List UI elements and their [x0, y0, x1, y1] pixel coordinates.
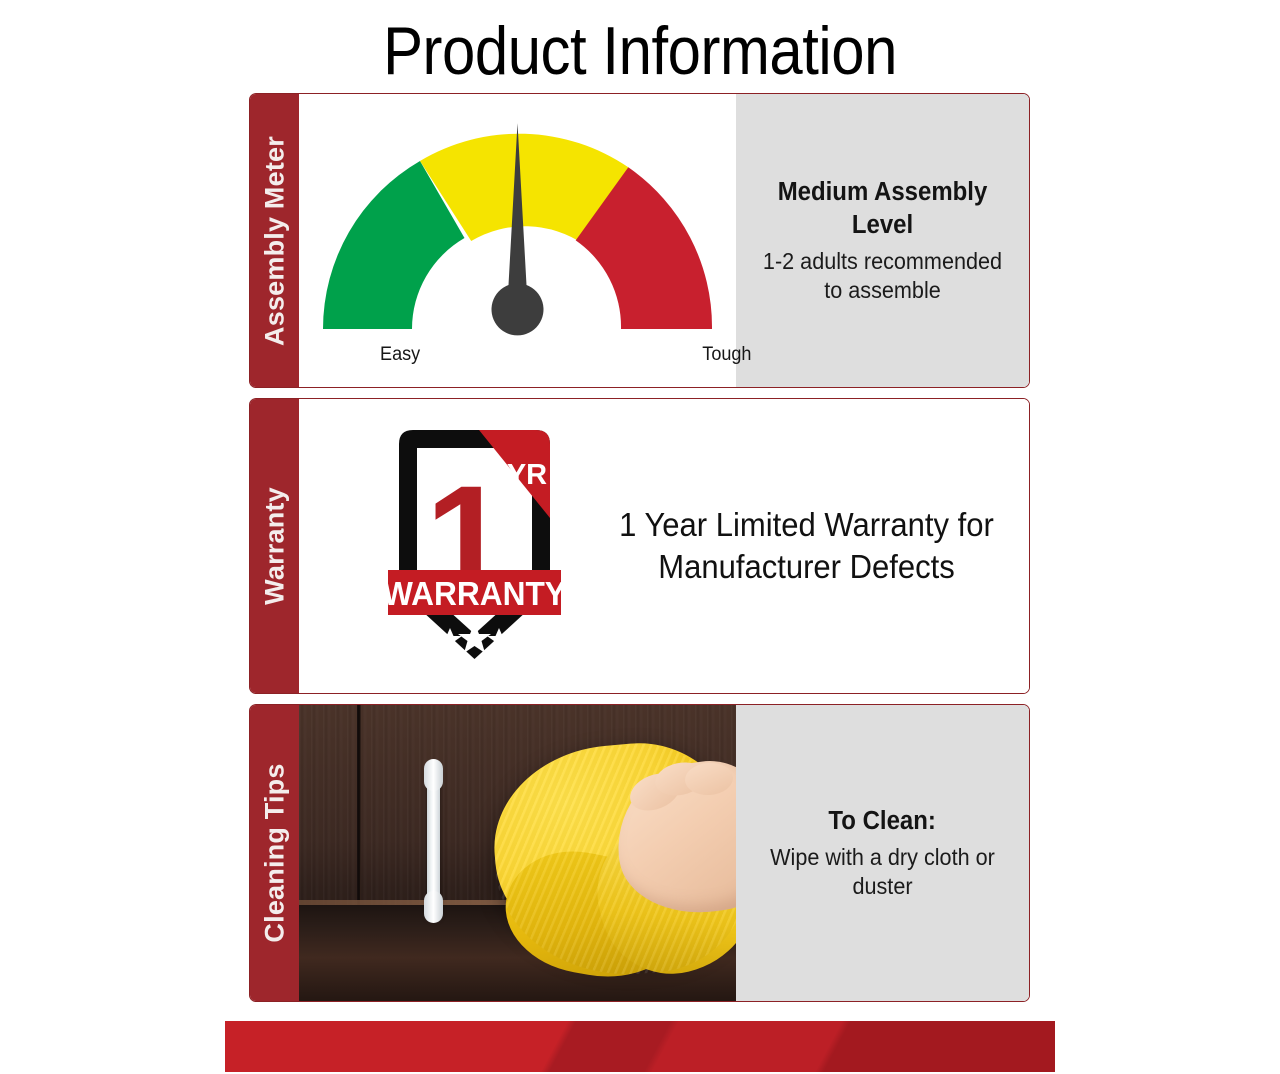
assembly-gauge: Easy Tough: [299, 94, 736, 387]
panel-cleaning-tips: Cleaning Tips To Clean: Wipe with a dry …: [249, 704, 1030, 1002]
gauge-label-easy: Easy: [380, 344, 420, 366]
tab-label-cleaning-tips: Cleaning Tips: [259, 763, 290, 942]
cleaning-text-block: To Clean: Wipe with a dry cloth or duste…: [736, 705, 1029, 1001]
assembly-heading: Medium Assembly Level: [754, 176, 1011, 242]
svg-text:WARRANTY: WARRANTY: [387, 575, 562, 612]
panel-body-cleaning: To Clean: Wipe with a dry cloth or duste…: [299, 705, 1029, 1001]
cleaning-heading: To Clean:: [829, 805, 936, 838]
panel-warranty: Warranty YR 1 WARRANTY: [249, 398, 1030, 694]
cleaning-photo: [299, 705, 736, 1001]
tab-cleaning-tips: Cleaning Tips: [250, 705, 299, 1001]
footer-bar: [225, 1021, 1055, 1072]
warranty-text-block: 1 Year Limited Warranty for Manufacturer…: [584, 399, 1029, 693]
warranty-badge: YR 1 WARRANTY: [299, 399, 584, 693]
warranty-shield-icon: YR 1 WARRANTY: [387, 422, 562, 667]
gauge-icon: [309, 117, 726, 349]
panel-assembly-meter: Assembly Meter Easy Tough Medium Assembl…: [249, 93, 1030, 388]
page-title: Product Information: [77, 8, 1203, 94]
cabinet-handle: [427, 765, 440, 917]
svg-text:YR: YR: [507, 459, 547, 491]
assembly-text-block: Medium Assembly Level 1-2 adults recomme…: [736, 94, 1029, 387]
panel-body-warranty: YR 1 WARRANTY 1 Year Limited Warranty fo…: [299, 399, 1029, 693]
wood-panel-seam: [357, 705, 361, 915]
tab-warranty: Warranty: [250, 399, 299, 693]
tab-assembly-meter: Assembly Meter: [250, 94, 299, 387]
panel-body-assembly: Easy Tough Medium Assembly Level 1-2 adu…: [299, 94, 1029, 387]
cleaning-subtext: Wipe with a dry cloth or duster: [754, 843, 1011, 901]
tab-label-assembly-meter: Assembly Meter: [259, 136, 290, 346]
assembly-subtext: 1-2 adults recommended to assemble: [754, 247, 1011, 305]
warranty-heading: 1 Year Limited Warranty for Manufacturer…: [607, 504, 1007, 588]
tab-label-warranty: Warranty: [259, 487, 290, 605]
gauge-label-tough: Tough: [702, 344, 751, 366]
